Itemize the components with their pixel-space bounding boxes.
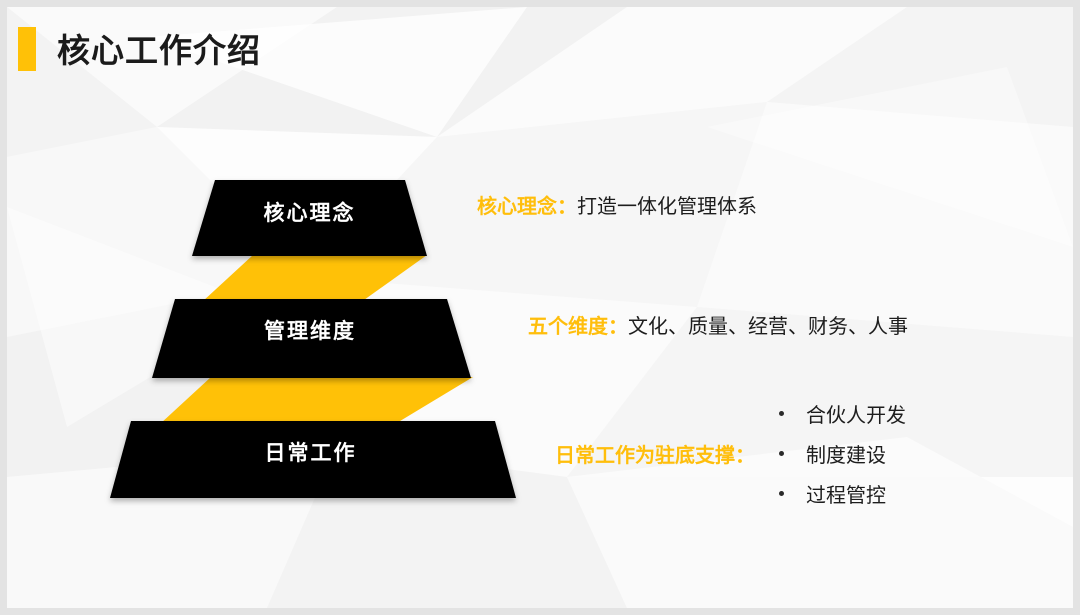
description-row-core-concept: 核心理念：打造一体化管理体系: [477, 190, 757, 219]
description-key-daily-work: 日常工作为驻底支撑：: [555, 439, 755, 468]
description-value-core-concept: 打造一体化管理体系: [577, 196, 757, 218]
list-item-label: 过程管控: [806, 479, 886, 508]
pyramid-diagram: 核心理念 管理维度 日常工作: [7, 7, 567, 608]
description-key-five-dimensions: 五个维度：: [528, 316, 628, 338]
bullet-dot-icon: [779, 411, 784, 416]
description-row-daily-work: 日常工作为驻底支撑： 合伙人开发 制度建设 过程管控: [555, 393, 1015, 513]
pyramid-label-top: 核心理念: [197, 197, 422, 227]
pyramid-shapes: [7, 7, 567, 608]
list-item-label: 制度建设: [806, 439, 886, 468]
description-key-core-concept: 核心理念：: [477, 196, 577, 218]
description-value-five-dimensions: 文化、质量、经营、财务、人事: [628, 316, 908, 338]
list-item: 合伙人开发: [767, 393, 906, 433]
pyramid-label-middle: 管理维度: [155, 315, 465, 345]
bullet-dot-icon: [779, 491, 784, 496]
description-row-five-dimensions: 五个维度：文化、质量、经营、财务、人事: [528, 310, 908, 339]
list-item-label: 合伙人开发: [806, 399, 906, 428]
daily-work-bullet-list: 合伙人开发 制度建设 过程管控: [755, 393, 906, 513]
bullet-dot-icon: [779, 451, 784, 456]
list-item: 过程管控: [767, 473, 906, 513]
pyramid-label-bottom: 日常工作: [113, 437, 508, 467]
list-item: 制度建设: [767, 433, 906, 473]
slide-canvas: 核心工作介绍 核心理念 管理维度 日常工作 核心理念：打造一体化管理体系: [7, 7, 1073, 608]
